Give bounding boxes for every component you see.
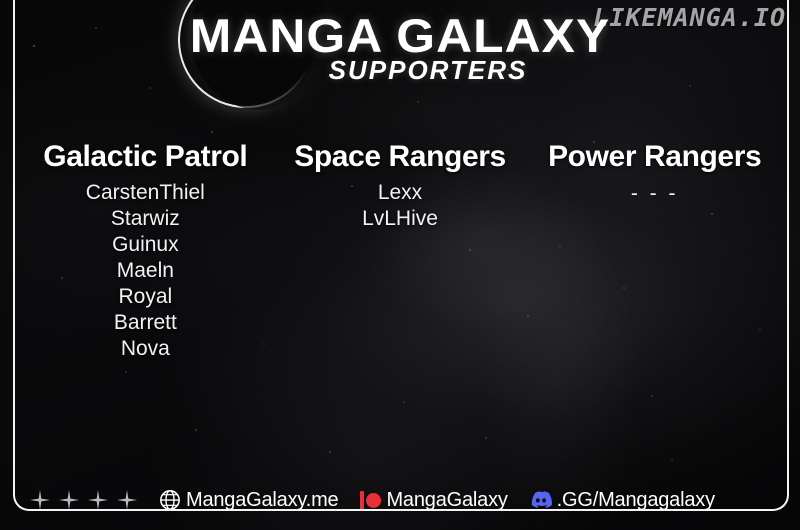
link-label: MangaGalaxy [386,489,507,512]
tier-title: Galactic Patrol [18,140,273,174]
link-discord[interactable]: .GG/Mangagalaxy [530,489,715,512]
globe-icon [159,489,181,511]
tier-column-space-rangers: Space Rangers Lexx LvLHive [273,140,528,232]
supporter-list: CarstenThiel Starwiz Guinux Maeln Royal … [18,180,273,362]
link-website[interactable]: MangaGalaxy.me [159,489,338,512]
link-label: MangaGalaxy.me [186,489,338,512]
tier-title: Space Rangers [273,140,528,174]
sparkle-group [30,490,137,510]
tier-title: Power Rangers [527,140,782,174]
discord-icon [530,489,552,511]
sparkle-icon [30,490,50,510]
list-item: LvLHive [273,206,528,232]
link-patreon[interactable]: MangaGalaxy [360,489,507,512]
list-item: CarstenThiel [18,180,273,206]
tier-column-power-rangers: Power Rangers - - - [527,140,782,206]
supporter-list: Lexx LvLHive [273,180,528,232]
patreon-icon [360,490,381,510]
sparkle-icon [59,490,79,510]
sparkle-icon [88,490,108,510]
footer-bar: MangaGalaxy.me MangaGalaxy .GG/Mangagala… [16,482,784,518]
list-item: Lexx [273,180,528,206]
empty-placeholder: - - - [527,182,782,206]
list-item: Barrett [18,310,273,336]
sparkle-icon [117,490,137,510]
tier-column-galactic-patrol: Galactic Patrol CarstenThiel Starwiz Gui… [18,140,273,362]
link-label: .GG/Mangagalaxy [557,489,715,512]
list-item: Maeln [18,258,273,284]
list-item: Royal [18,284,273,310]
list-item: Starwiz [18,206,273,232]
supporters-card: LIKEMANGA.IO MANGA GALAXY SUPPORTERS Gal… [0,0,800,530]
list-item: Nova [18,336,273,362]
site-watermark: LIKEMANGA.IO [593,3,786,32]
list-item: Guinux [18,232,273,258]
tier-columns: Galactic Patrol CarstenThiel Starwiz Gui… [18,140,782,362]
